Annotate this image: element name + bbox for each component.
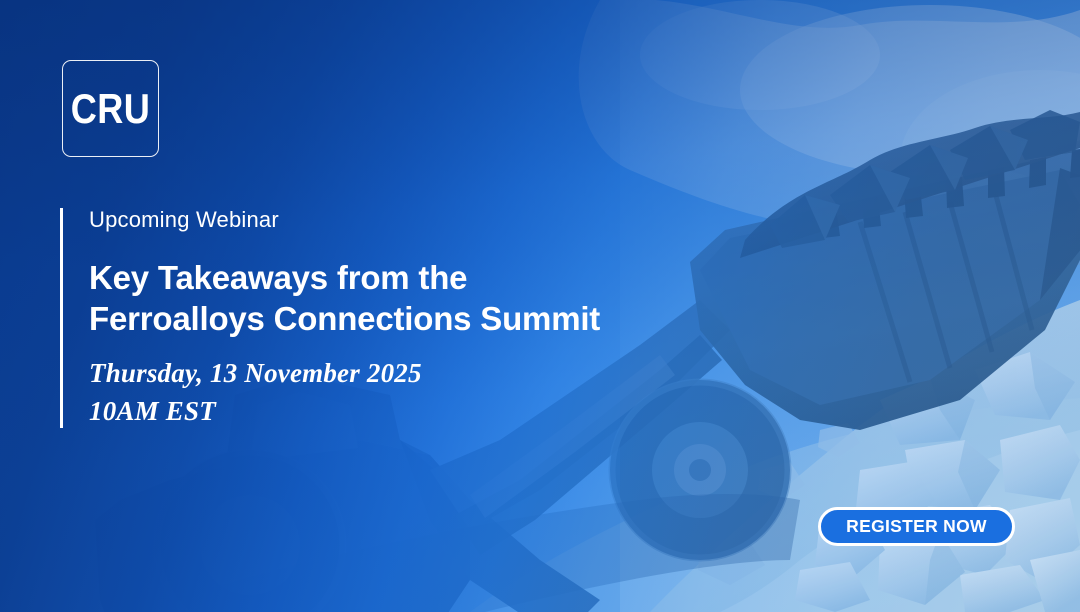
event-time: 10AM EST — [89, 392, 789, 430]
banner-text-block: Upcoming Webinar Key Takeaways from the … — [89, 208, 789, 431]
webinar-promo-banner: CRU Upcoming Webinar Key Takeaways from … — [0, 0, 1080, 612]
page-title: Key Takeaways from the Ferroalloys Conne… — [89, 258, 789, 340]
event-date: Thursday, 13 November 2025 — [89, 354, 789, 392]
cru-logo-text: CRU — [70, 88, 152, 130]
register-now-label: REGISTER NOW — [846, 516, 987, 537]
vertical-accent-rule — [60, 208, 63, 428]
register-now-button[interactable]: REGISTER NOW — [818, 507, 1015, 546]
cru-logo: CRU — [62, 60, 159, 157]
kicker-label: Upcoming Webinar — [89, 208, 789, 232]
